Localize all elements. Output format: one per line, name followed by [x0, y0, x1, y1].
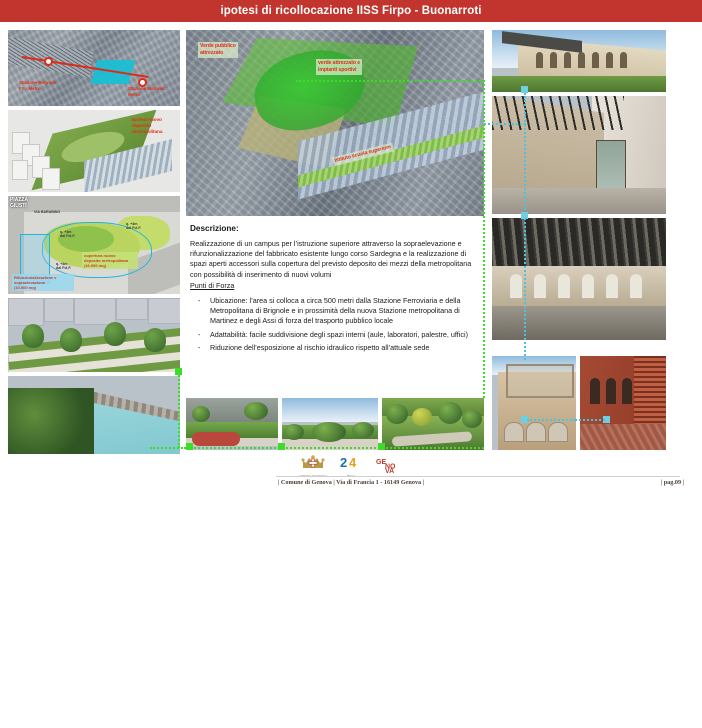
context-building [8, 298, 44, 326]
connector-line-green [186, 447, 484, 449]
arched-window [606, 274, 618, 298]
footer-divider [276, 476, 680, 477]
arched-window [510, 274, 522, 298]
photo-interior-hall [492, 218, 666, 340]
connector-line-cyan [524, 96, 526, 218]
bullet-marker: - [198, 296, 200, 306]
genova-wordmark-icon: GE NO VA [374, 457, 404, 478]
photo-garden-park [382, 398, 484, 450]
tree [22, 324, 44, 348]
window-opening [606, 378, 616, 404]
strengths-list: -Ubicazione: l’area si colloca a circa 5… [186, 296, 484, 353]
map-stations-aerial: Stazione Brignole FS - Metrò Stazione Ma… [8, 30, 180, 106]
window-opening [622, 378, 632, 404]
photo-elevated-walkway [8, 376, 180, 454]
label-stazione-martinez: Stazione Martinez Metrò [128, 86, 165, 97]
render-deposito-massing: Ipotesi nuovo deposito metropolitana [8, 110, 180, 192]
tree [60, 328, 82, 352]
genova-24-logo-icon: 2 4 ITALIA [338, 455, 364, 478]
arched-window [592, 52, 599, 68]
footer-page-number: | pag.09 | [661, 479, 684, 486]
strengths-heading: Punti di Forza [190, 281, 484, 290]
tree-clump [244, 402, 268, 420]
photo-portico-detail [492, 96, 666, 214]
plan-quote-2: q. +4m dal P.d.F. [126, 222, 141, 231]
arched-opening [548, 422, 568, 442]
page-title: ipotesi di ricollocazione IISS Firpo - B… [0, 0, 702, 22]
render-aerial-main: Verde pubblico attrezzato verde attrezza… [186, 30, 484, 216]
list-item: -Adattabilità: facile suddivisione degli… [190, 330, 476, 340]
arched-window [578, 52, 585, 68]
tree-clump [438, 402, 462, 424]
station-node-brignole [44, 57, 53, 66]
list-item-text: Ubicazione: l’area si colloca a circa 50… [210, 296, 461, 325]
exposed-roof-frame [506, 364, 574, 398]
footer-address: | Comune di Genova | Via di Francia 1 - … [278, 479, 424, 486]
comune-genova-crest-icon: COMUNE DI GENOVA [298, 454, 328, 478]
context-building [148, 298, 180, 324]
vegetation-mass [8, 388, 94, 454]
photo-brick-facade [580, 356, 666, 450]
photo-park-aerial [186, 398, 278, 450]
connector-line-green [483, 80, 485, 398]
paving [580, 424, 666, 450]
label-stazione-brignole: Stazione Brignole FS - Metrò [19, 80, 56, 91]
connector-line-cyan [527, 419, 575, 421]
context-block [12, 160, 28, 180]
window-opening [590, 378, 600, 404]
arched-window [558, 274, 570, 298]
label-via-barabino: VIA BARABINO [34, 210, 60, 214]
connector-line-green [178, 372, 180, 448]
bullet-marker: - [198, 343, 200, 353]
svg-text:2: 2 [340, 455, 347, 470]
tree-clump [284, 424, 304, 440]
footer-logos: COMUNE DI GENOVA 2 4 ITALIA GE NO VA [298, 458, 408, 478]
description-panel: Descrizione: Realizzazione di un campus … [186, 218, 484, 394]
arched-opening [526, 422, 546, 442]
context-building [116, 298, 148, 320]
connector-line-cyan [484, 123, 526, 125]
tree [104, 322, 126, 346]
photo-officine-exterior [492, 30, 666, 92]
callout-copertura-deposito: copertura nuovo deposito metropolitana (… [82, 252, 138, 269]
tree-clump [312, 422, 346, 442]
context-building [74, 298, 116, 325]
arched-window [550, 52, 557, 68]
context-building [44, 298, 74, 322]
sky [282, 398, 378, 422]
list-item: -Ubicazione: l’area si colloca a circa 5… [190, 296, 476, 327]
site-plan-drawing: PIAZZA GIUSTI VIA BARABINO q. +4m dal P.… [8, 196, 180, 294]
tree-clump [386, 404, 408, 424]
svg-text:4: 4 [349, 455, 357, 470]
arched-window [620, 52, 627, 68]
connector-node-green [278, 443, 285, 450]
photo-linear-park [282, 398, 378, 450]
plan-quote-3: q. +4m dal P.d.F. [56, 262, 71, 271]
label-ipotesi-deposito: Ipotesi nuovo deposito metropolitana [132, 118, 162, 136]
connector-node-green [378, 443, 385, 450]
connector-line-green [296, 80, 484, 82]
hall-floor [492, 306, 666, 340]
connector-line-cyan [524, 218, 526, 360]
arched-opening [504, 422, 524, 442]
roof-trusses [492, 218, 666, 272]
callout-rifunzionalizzazione: Rifunzionalizzazione e sopraelevazione (… [12, 274, 74, 291]
connector-node-cyan [521, 86, 528, 93]
context-block [42, 168, 60, 190]
arched-window [606, 52, 613, 68]
list-item-text: Adattabilità: facile suddivisione degli … [210, 330, 468, 339]
lawn-foreground [492, 76, 666, 92]
arched-window [564, 52, 571, 68]
arched-window [534, 274, 546, 298]
label-verde-pubblico: Verde pubblico attrezzato [198, 42, 238, 58]
svg-text:VA: VA [385, 468, 394, 473]
connector-node-green [175, 368, 182, 375]
list-item: -Riduzione dell’esposizione al rischio i… [190, 343, 476, 353]
arched-window [582, 274, 594, 298]
tree-clump [412, 408, 432, 426]
label-piazza-giusti-plan: PIAZZA GIUSTI [10, 198, 28, 209]
plan-quote-1: q. +4m dal P.d.F. [60, 230, 75, 239]
description-body: Realizzazione di un campus per l’istruzi… [190, 239, 476, 280]
tree-clump [192, 406, 210, 422]
tree [144, 328, 166, 352]
description-heading: Descrizione: [190, 224, 484, 233]
photo-terraced-park [8, 298, 180, 372]
arched-window [536, 52, 543, 68]
tree-clump [352, 422, 374, 438]
connector-line-green [150, 447, 186, 449]
list-item-text: Riduzione dell’esposizione al rischio id… [210, 343, 429, 352]
running-track [192, 432, 240, 446]
connector-node-green [186, 443, 193, 450]
arched-window [630, 274, 642, 298]
bullet-marker: - [198, 330, 200, 340]
connector-line-cyan [575, 419, 605, 421]
tree-clump [462, 410, 482, 428]
paving [492, 188, 666, 214]
photo-disused-workshop [492, 356, 576, 450]
label-verde-sportivo: verde attrezzato e impianti sportivi [316, 59, 362, 75]
